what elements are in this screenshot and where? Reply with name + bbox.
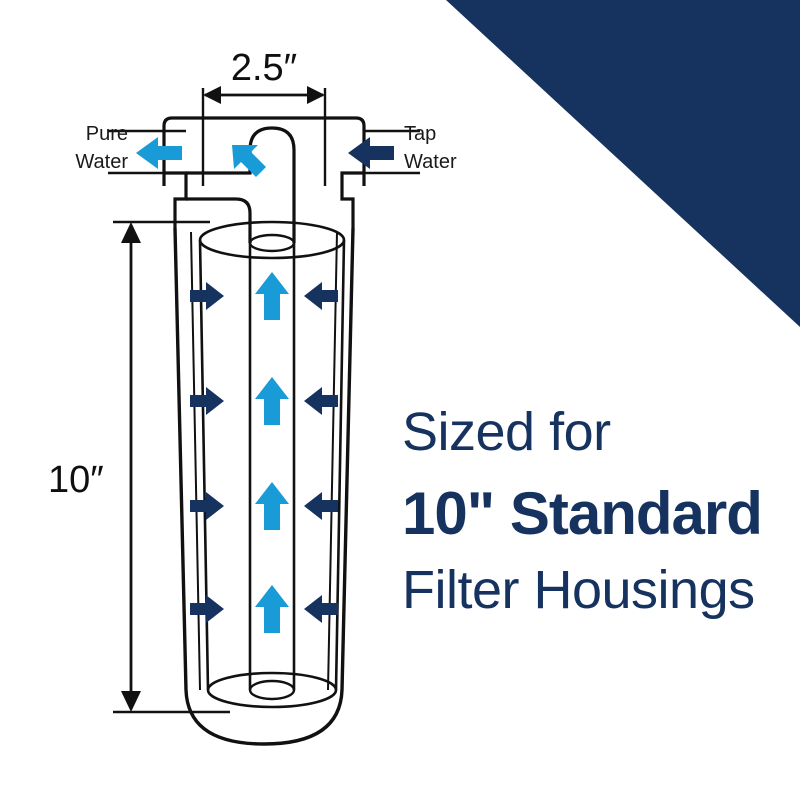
flow-arrow-row xyxy=(190,585,338,633)
corner-accent-triangle xyxy=(446,0,800,327)
tap-water-label-line2: Water xyxy=(404,151,457,173)
riser-bottom-ellipse xyxy=(250,681,294,699)
pure-water-outflow-arrow xyxy=(136,137,182,169)
headline-line-1: Sized for xyxy=(402,402,611,462)
cap-shoulder-left xyxy=(164,173,186,228)
headline-line-2: 10" Standard xyxy=(402,480,762,547)
width-arrowhead-left xyxy=(203,86,221,104)
flow-arrow-row xyxy=(190,377,338,425)
inward-flow-arrow-right xyxy=(304,492,338,520)
tap-water-label-line1: Tap xyxy=(404,123,436,145)
width-dimension-label: 2.5″ xyxy=(231,47,297,89)
width-arrowhead-right xyxy=(307,86,325,104)
upflow-arrow-center xyxy=(255,585,289,633)
height-dimension-label: 10″ xyxy=(48,459,104,501)
cartridge-bottom-ellipse xyxy=(208,673,336,707)
cartridge-top-ellipse xyxy=(200,222,344,258)
upflow-arrow-center xyxy=(255,377,289,425)
headline-block: Sized for 10" Standard Filter Housings xyxy=(402,402,762,620)
height-arrowhead-bottom xyxy=(121,691,141,712)
flow-arrow-row xyxy=(190,482,338,530)
pure-water-label-line2: Water xyxy=(75,151,128,173)
pure-water-label: Pure Water xyxy=(75,123,128,173)
tap-water-inflow-arrow xyxy=(348,137,394,169)
cap-shoulder-right xyxy=(342,173,364,228)
upflow-arrow-center xyxy=(255,272,289,320)
inward-flow-arrow-right xyxy=(304,282,338,310)
inward-flow-arrow-right xyxy=(304,595,338,623)
tap-water-label: Tap Water xyxy=(404,123,457,173)
flow-arrow-row xyxy=(190,272,338,320)
inward-flow-arrow-left xyxy=(190,492,224,520)
diagram-canvas: 2.5″ 10″ xyxy=(0,0,800,800)
filter-housing-illustration: 2.5″ 10″ xyxy=(0,0,800,800)
upflow-arrow-center xyxy=(255,482,289,530)
riser-top-ellipse xyxy=(250,235,294,251)
height-arrowhead-top xyxy=(121,222,141,243)
housing-cap xyxy=(108,118,420,243)
pure-water-label-line1: Pure xyxy=(86,123,128,145)
inward-flow-arrow-left xyxy=(190,282,224,310)
inward-flow-arrow-left xyxy=(190,595,224,623)
headline-line-3: Filter Housings xyxy=(402,560,755,620)
